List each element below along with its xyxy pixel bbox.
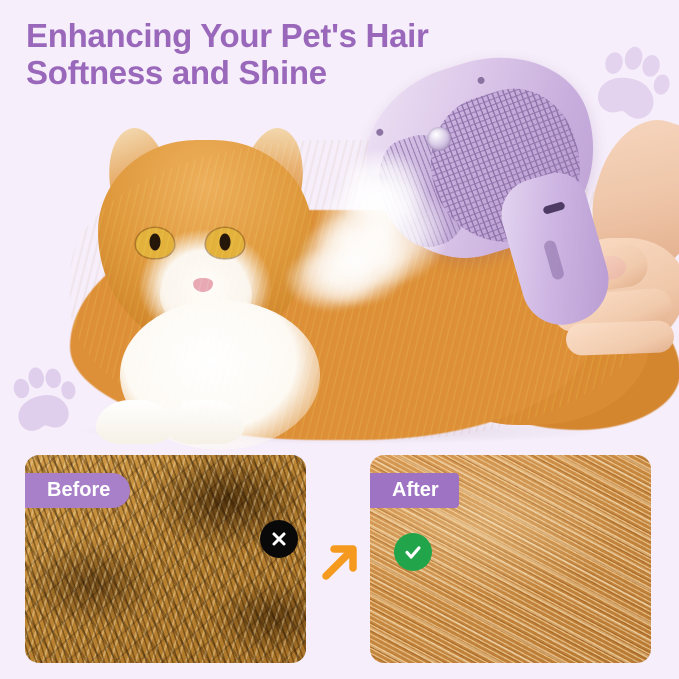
brush-vent-hole-1 <box>375 128 384 137</box>
after-badge: After <box>370 473 459 508</box>
product-banner: Before After Enhancing Your Pet's Hair <box>0 0 679 679</box>
steam-puff-trail <box>286 248 378 310</box>
x-mark-icon <box>260 520 298 558</box>
before-badge: Before <box>25 473 130 508</box>
human-middle-finger <box>565 320 674 356</box>
after-badge-label: After <box>392 479 439 502</box>
improvement-arrow-icon <box>318 540 362 584</box>
check-mark-icon <box>394 533 432 571</box>
page-title: Enhancing Your Pet's Hair Softness and S… <box>26 18 586 92</box>
after-panel: After <box>370 455 651 663</box>
headline-line-2: Softness and Shine <box>26 55 586 92</box>
before-badge-label: Before <box>47 479 110 502</box>
brush-steam-nozzle <box>427 127 451 151</box>
before-panel: Before <box>25 455 306 663</box>
headline-line-1: Enhancing Your Pet's Hair <box>26 18 586 55</box>
